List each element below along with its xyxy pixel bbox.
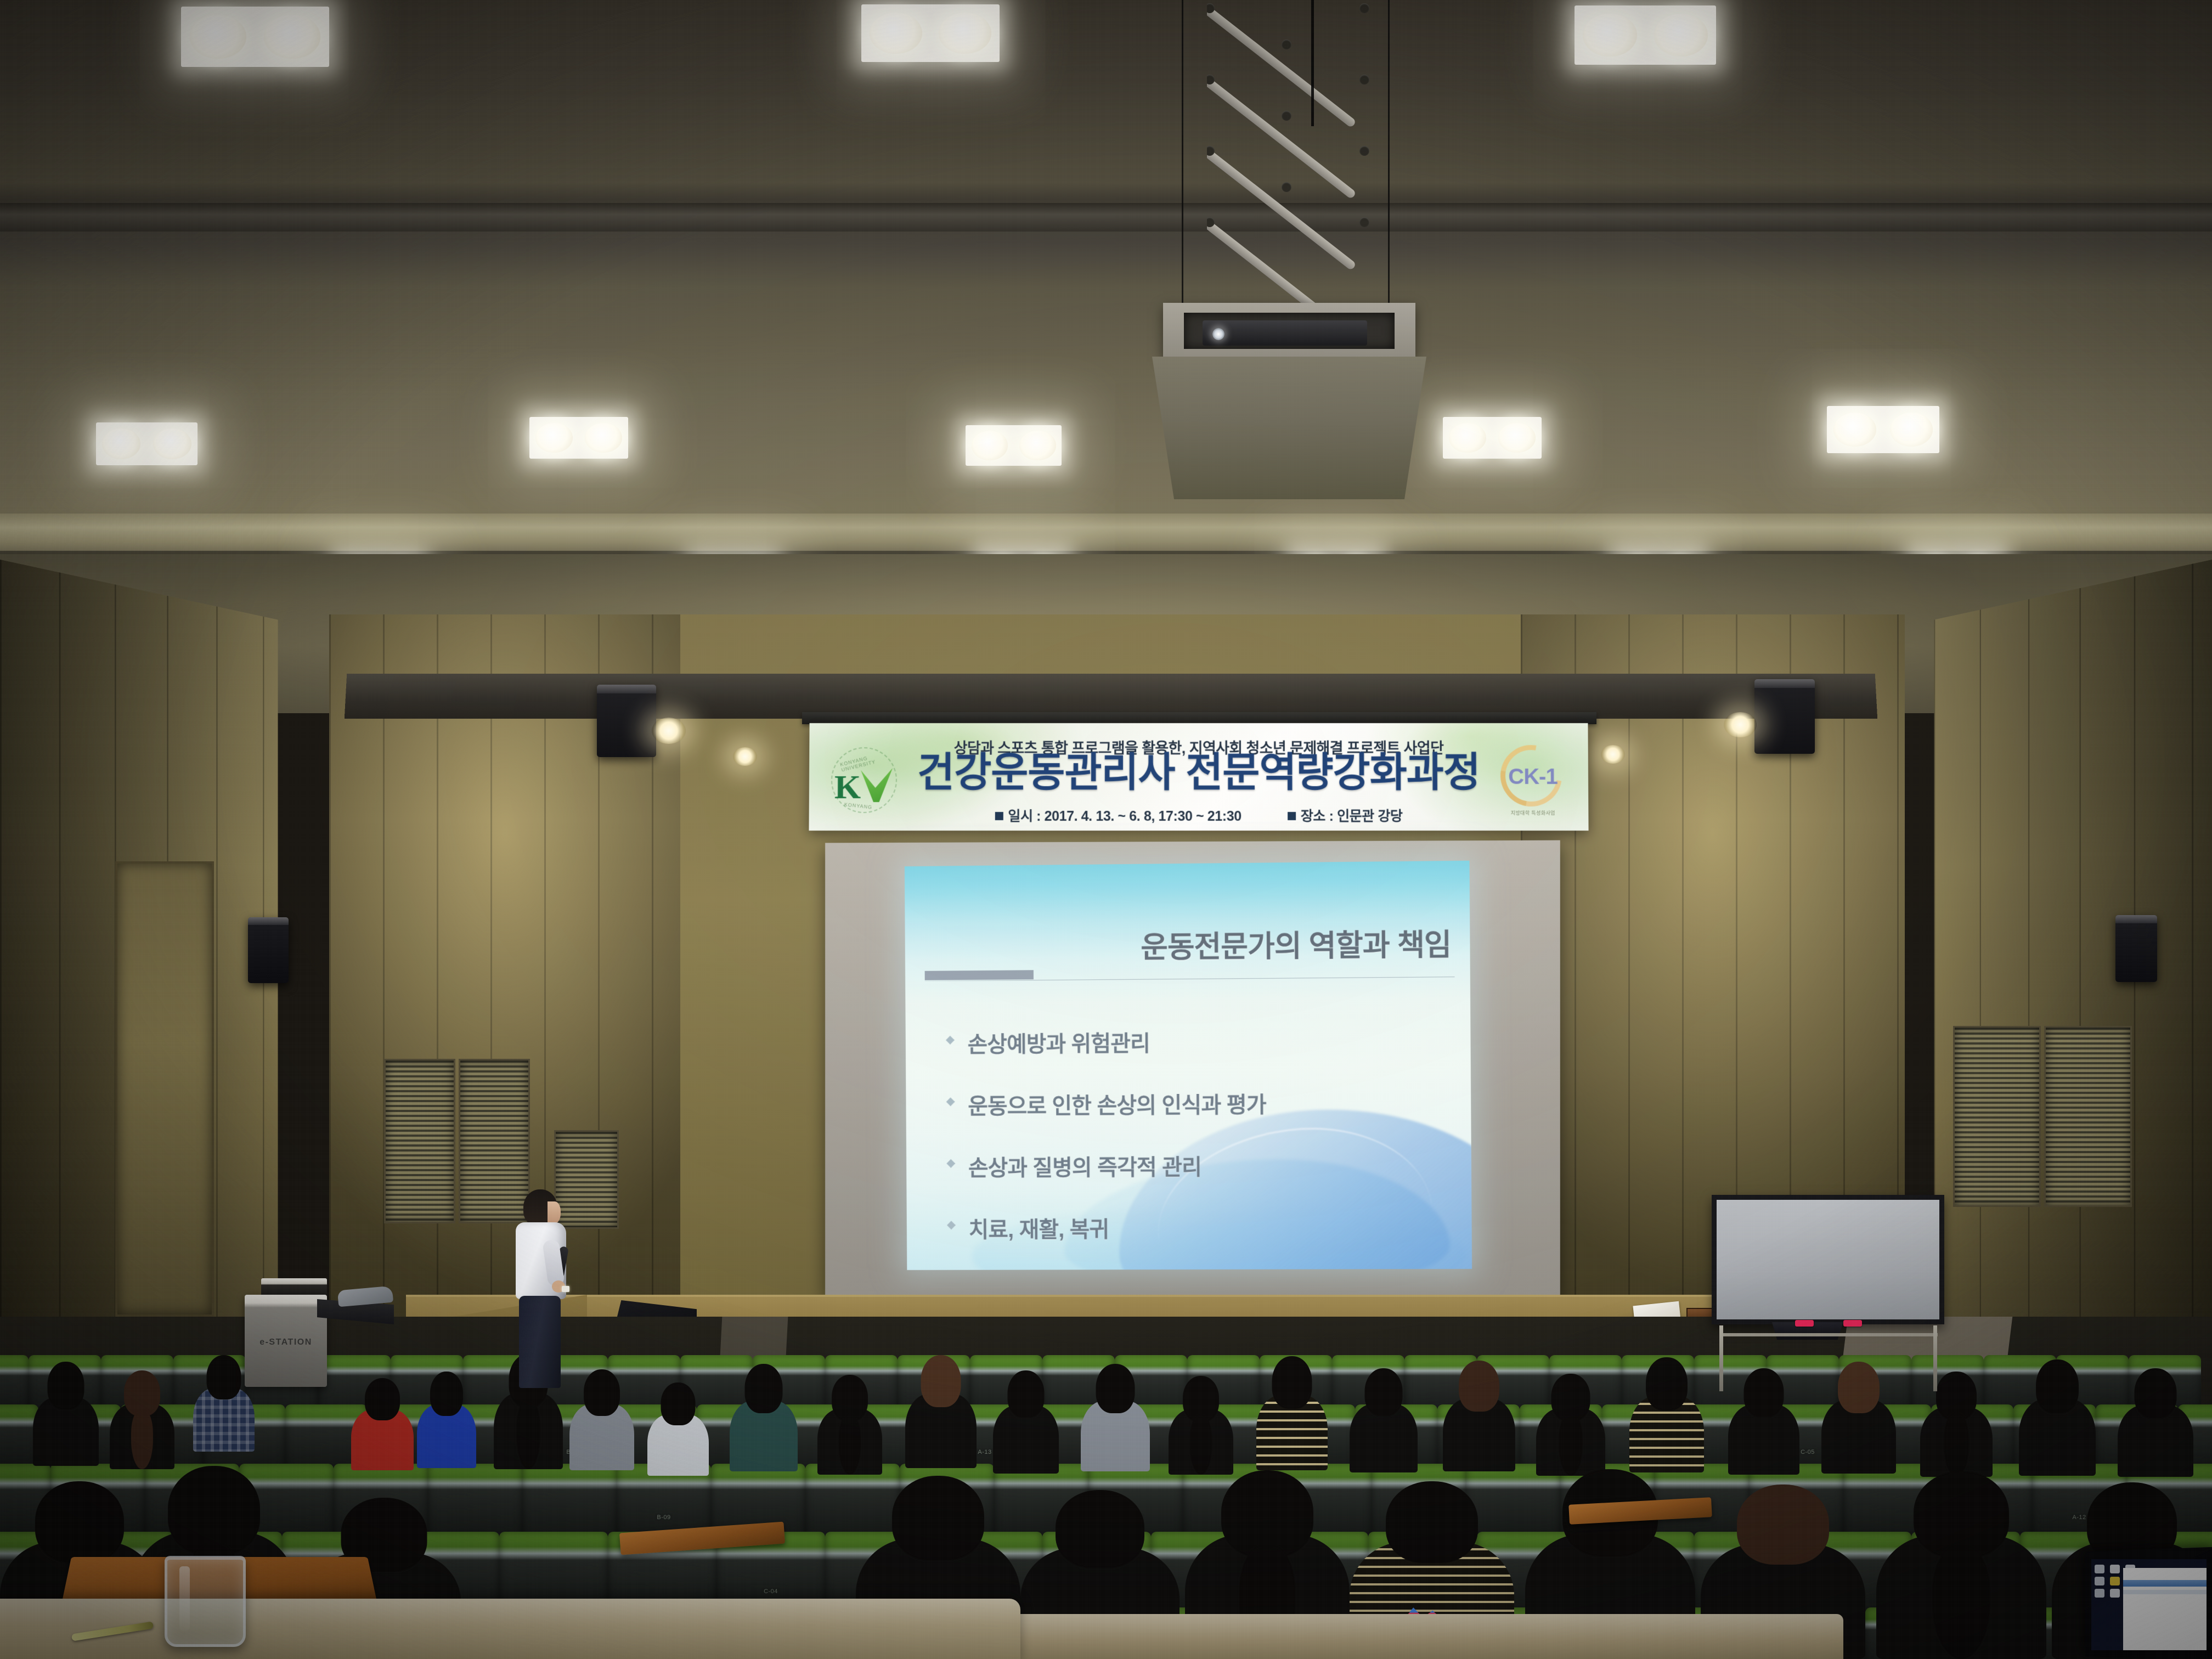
whiteboard-surface[interactable] (1712, 1195, 1944, 1324)
laptop-open-window[interactable] (2123, 1568, 2207, 1650)
desktop-icon-8[interactable] (2110, 1589, 2120, 1598)
audience-head (1183, 1376, 1219, 1421)
foreground-desk-left[interactable] (0, 1599, 1020, 1659)
audience-head (48, 1362, 84, 1409)
projector-signal-cable (1311, 0, 1314, 126)
seat-number-tag: B-09 (655, 1514, 672, 1521)
desktop-icon-1[interactable] (2095, 1565, 2104, 1573)
ceiling-light-3 (1575, 5, 1716, 65)
slide-bullet-1: 손상예방과 위험관리 (944, 1024, 1437, 1059)
audience-member (110, 1370, 174, 1469)
seat-number-tag: A-13 (976, 1448, 993, 1456)
audience-member (647, 1383, 709, 1476)
bag-on-lectern (337, 1286, 393, 1307)
red-marker-icon[interactable] (1795, 1320, 1814, 1327)
wall-speaker-1 (597, 685, 656, 757)
audience-member (33, 1362, 99, 1466)
whiteboard-stand-leg (1933, 1325, 1937, 1391)
audience-head (1056, 1490, 1144, 1568)
audience-member (1169, 1376, 1233, 1475)
slide-bullet-2: 운동으로 인한 손상의 인식과 평가 (944, 1086, 1438, 1120)
audience-member (730, 1364, 798, 1471)
stage-spotlight (652, 718, 686, 744)
desktop-icon-5[interactable] (2110, 1577, 2120, 1585)
stage-spotlight (733, 747, 757, 766)
banner-date: 일시 : 2017. 4. 13. ~ 6. 8, 17:30 ~ 21:30 (995, 805, 1241, 825)
audience-head (1737, 1485, 1829, 1565)
audience-member (1081, 1364, 1150, 1471)
bullet-square-icon (995, 812, 1003, 820)
banner-place: 장소 : 인문관 강당 (1288, 805, 1403, 825)
audience-laptop[interactable] (2080, 1544, 2212, 1659)
presentation-clicker-icon (562, 1286, 569, 1292)
wall-vent-grille (1953, 1026, 2041, 1207)
whiteboard-stand-leg (1719, 1325, 1723, 1391)
auditorium-photo: KONYANG UNIVERSITY KONYANG K 상담과 스포츠 통합 … (0, 0, 2212, 1659)
slide-bullet-4: 치료, 재활, 복귀 (945, 1211, 1438, 1244)
slide-bullet-list: 손상예방과 위험관리운동으로 인한 손상의 인식과 평가손상과 질병의 즉각적 … (944, 1024, 1439, 1270)
audience-head (1221, 1470, 1313, 1557)
seat-back (522, 1464, 617, 1539)
laptop-window-toolbar (2123, 1590, 2207, 1594)
audience-head (892, 1476, 984, 1560)
ceiling-light-5 (529, 417, 628, 459)
side-wall-right-rear (1934, 560, 2212, 1383)
seat[interactable] (522, 1464, 617, 1539)
wall-speaker-4 (2115, 915, 2157, 982)
audience-head (124, 1370, 160, 1416)
wall-vent-grille (2044, 1026, 2132, 1207)
ck1-logo-label: CK-1 (1492, 765, 1574, 789)
ceiling-light-6 (966, 425, 1062, 466)
audience-head (168, 1466, 260, 1555)
slide-accent-tab (925, 970, 1034, 980)
desktop-icon-2[interactable] (2110, 1565, 2120, 1573)
audience-member (2019, 1359, 2096, 1476)
audience-member (1536, 1374, 1605, 1476)
audience-member (1350, 1368, 1418, 1472)
event-banner: KONYANG UNIVERSITY KONYANG K 상담과 스포츠 통합 … (809, 723, 1588, 831)
ceiling-light-4 (96, 422, 198, 465)
audience-head (1386, 1481, 1478, 1563)
audience-head (584, 1369, 620, 1416)
bullet-square-icon (1288, 812, 1296, 820)
audience-member (417, 1372, 476, 1468)
audience-head (2135, 1368, 2177, 1418)
audience-head (35, 1481, 124, 1563)
laptop-screen[interactable] (2091, 1559, 2207, 1650)
presenter-face (548, 1201, 561, 1223)
projector-cable (1388, 0, 1390, 307)
audience-head (430, 1372, 463, 1416)
wall-speaker-2 (1754, 679, 1815, 754)
audience-head (2036, 1359, 2079, 1413)
banner-mounting-rail (802, 712, 1596, 724)
ck1-logo: CK-1 지방대학 특성화사업 (1492, 742, 1575, 819)
ceiling-light-7 (1443, 417, 1542, 459)
ponytail (1559, 1414, 1583, 1476)
ck1-logo-subtitle: 지방대학 특성화사업 (1492, 809, 1574, 816)
ponytail (839, 1415, 861, 1475)
lectern-brand-label: e-STATION (245, 1338, 327, 1347)
whiteboard-stand-crossbar (1720, 1333, 1938, 1336)
ceiling-beam-lower (0, 513, 2212, 554)
audience-member (1256, 1356, 1328, 1470)
audience-head (1365, 1368, 1403, 1416)
ceiling-light-1 (181, 7, 329, 67)
audience-member (1876, 1471, 2046, 1659)
ceiling-light-2 (861, 4, 1000, 62)
seat-number-tag: C-05 (1799, 1448, 1816, 1456)
audience-head (1008, 1370, 1045, 1418)
audience-head (1459, 1361, 1499, 1412)
ceiling-projector-assembly (1147, 0, 1432, 554)
desktop-icon-4[interactable] (2095, 1577, 2104, 1585)
ponytail (1932, 1547, 1990, 1659)
ponytail (517, 1400, 540, 1469)
audience-head (661, 1383, 696, 1425)
foreground-desk-right[interactable] (966, 1614, 1843, 1659)
banner-title: 건강운동관리사 전문역량강화과정 (891, 752, 1506, 793)
stage-spotlight (1724, 712, 1757, 737)
projector-cable (1182, 0, 1183, 307)
ky-logo-letter: K (834, 770, 861, 804)
seat-number-tag: C-04 (762, 1588, 780, 1595)
audience-member (2118, 1368, 2193, 1477)
wall-speaker-3 (248, 917, 289, 983)
audience-member (905, 1355, 977, 1468)
audience-head (1914, 1471, 2009, 1558)
slide-bullet-3: 손상과 질병의 즉각적 관리 (944, 1148, 1438, 1182)
audience-member (993, 1370, 1059, 1474)
red-marker-icon[interactable] (1843, 1320, 1862, 1327)
ceiling-beam-upper (0, 203, 2212, 232)
ky-logo: KONYANG UNIVERSITY KONYANG K (830, 746, 899, 814)
ponytail (1944, 1414, 1969, 1477)
audience-head (1272, 1356, 1312, 1409)
audience-head (745, 1364, 783, 1413)
scissor-lift-icon (1207, 0, 1372, 351)
desktop-icon-7[interactable] (2095, 1589, 2104, 1598)
stage-spotlight (1601, 745, 1625, 764)
ponytail (1190, 1415, 1212, 1475)
audience-member (1443, 1361, 1515, 1471)
projector-lift-housing (1163, 303, 1415, 358)
audience-head (1646, 1357, 1688, 1410)
ponytail (131, 1410, 153, 1469)
presenter (505, 1189, 587, 1387)
projector-enclosure-skirt (1152, 357, 1426, 499)
slide-title: 운동전문가의 역할과 책임 (1141, 921, 1451, 967)
lectern-body: e-STATION (245, 1295, 327, 1387)
audience-head (832, 1375, 868, 1421)
laptop-window-titlebar (2123, 1580, 2207, 1587)
ceiling (0, 0, 2212, 554)
clear-plastic-cup[interactable] (165, 1556, 246, 1647)
audience-member (1629, 1357, 1704, 1472)
audience-head (1551, 1374, 1590, 1421)
audience-head (921, 1355, 961, 1407)
whiteboard-on-stand[interactable] (1707, 1195, 1949, 1398)
e-station-lectern[interactable]: e-STATION (229, 1278, 394, 1410)
wall-vent-grille (384, 1059, 455, 1223)
projector-body (1203, 320, 1367, 346)
presentation-slide: 운동전문가의 역할과 책임 손상예방과 위험관리운동으로 인한 손상의 인식과 … (905, 861, 1472, 1270)
side-door-left[interactable] (115, 861, 214, 1317)
presenter-trousers (519, 1296, 561, 1388)
audience-member (817, 1375, 882, 1475)
projection-screen: 운동전문가의 역할과 책임 손상예방과 위험관리운동으로 인한 손상의 인식과 … (823, 842, 1558, 1297)
audience-head (1096, 1364, 1135, 1413)
ceiling-light-8 (1827, 406, 1939, 453)
